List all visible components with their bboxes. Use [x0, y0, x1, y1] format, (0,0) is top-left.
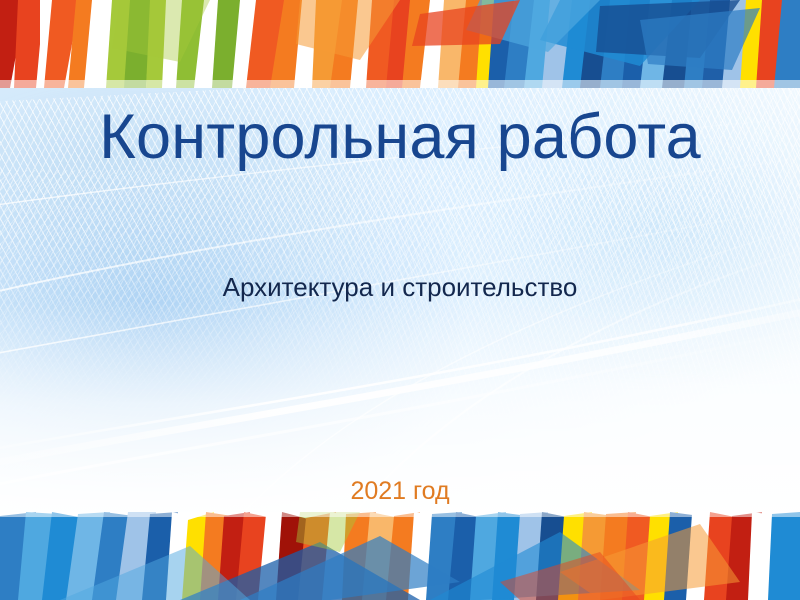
slide-title: Контрольная работа — [0, 104, 800, 170]
slide-year: 2021 год — [0, 476, 800, 506]
bottom-band-artwork — [0, 512, 800, 600]
top-decorative-band — [0, 0, 800, 88]
presentation-slide: Контрольная работа Архитектура и строите… — [0, 0, 800, 600]
slide-subtitle: Архитектура и строительство — [0, 272, 800, 303]
top-band-artwork — [0, 0, 800, 88]
bottom-decorative-band — [0, 512, 800, 600]
